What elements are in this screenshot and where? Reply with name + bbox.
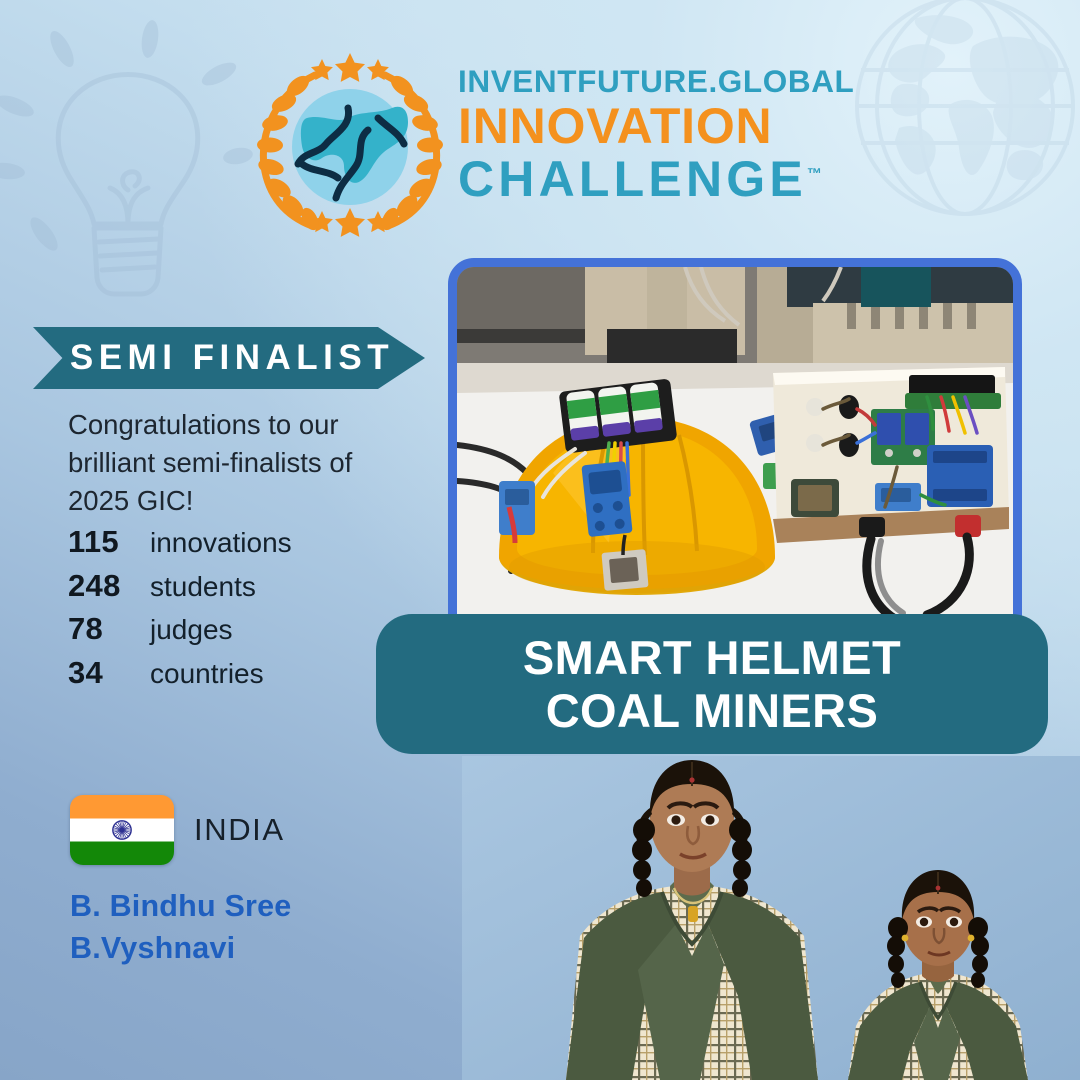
brand-wordmark: INVENTFUTURE.GLOBAL INNOVATION CHALLENGE… [458,66,878,205]
project-photo-illustration [457,267,1013,639]
stat-value: 115 [68,524,150,560]
semi-finalist-ribbon: SEMI FINALIST [33,327,425,389]
stat-row-students: 248 students [68,568,408,612]
trademark-symbol: ™ [807,165,822,182]
congratulations-text: Congratulations to our brilliant semi-fi… [68,406,378,520]
project-photo-frame [448,258,1022,648]
laurel-wreath-globe-emblem-icon [252,48,448,244]
ribbon-label: SEMI FINALIST [64,338,394,378]
project-title: SMART HELMET COAL MINERS [523,631,901,737]
students-photo [462,756,1080,1080]
poster-canvas: INVENTFUTURE.GLOBAL INNOVATION CHALLENGE… [0,0,1080,1080]
brand-line-challenge: CHALLENGE™ [458,154,878,205]
brand-line-challenge-text: CHALLENGE [458,151,807,207]
brand-line-inventfuture: INVENTFUTURE.GLOBAL [458,66,878,98]
brand-line-innovation: INNOVATION [458,101,878,152]
stat-label: innovations [150,527,292,559]
stat-label: judges [150,614,233,646]
participant-name: B.Vyshnavi [70,927,490,969]
participants-list: B. Bindhu Sree B.Vyshnavi [70,885,490,969]
stat-row-judges: 78 judges [68,611,408,655]
participant-name: B. Bindhu Sree [70,885,490,927]
project-title-banner: SMART HELMET COAL MINERS [376,614,1048,754]
country-row: INDIA [70,795,285,865]
stat-value: 78 [68,611,150,647]
stat-value: 248 [68,568,150,604]
country-name: INDIA [194,812,285,848]
stats-list: 115 innovations 248 students 78 judges 3… [68,524,408,698]
stat-row-countries: 34 countries [68,655,408,699]
stat-label: countries [150,658,264,690]
stat-value: 34 [68,655,150,691]
project-photo [457,267,1013,639]
brand-logo: INVENTFUTURE.GLOBAL INNOVATION CHALLENGE… [252,44,872,234]
project-title-line2: COAL MINERS [523,684,901,737]
india-flag-icon [70,795,174,865]
ashoka-chakra-icon [112,820,133,841]
project-title-line1: SMART HELMET [523,631,901,684]
stat-label: students [150,571,256,603]
lightbulb-watermark-icon [0,6,282,336]
stat-row-innovations: 115 innovations [68,524,408,568]
students-photo-illustration [462,756,1080,1080]
